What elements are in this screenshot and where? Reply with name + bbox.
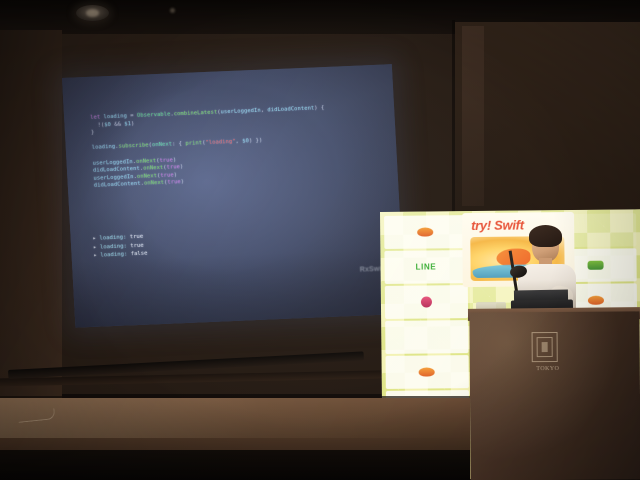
code-token: $0 (104, 121, 114, 127)
code-token: onNext (152, 142, 172, 149)
code-token: && (114, 121, 124, 127)
code-token: true (167, 179, 181, 186)
sponsor-mark-icon (419, 367, 435, 376)
code-token: true (160, 172, 174, 179)
code-token: ) (181, 179, 185, 185)
code-token: ) (180, 164, 184, 170)
right-wall-panel (462, 26, 484, 206)
stage-floor-sheen (0, 398, 470, 438)
code-token: ) (131, 121, 135, 127)
sponsor-mark-icon (421, 296, 432, 307)
code-token: subscribe (118, 143, 148, 150)
screen-bottom-shading (72, 248, 405, 328)
sponsor-logo-orange-blob-sponsor (384, 215, 467, 249)
code-token: onNext (136, 158, 156, 165)
console-value: true (126, 234, 143, 241)
code-token: : { (172, 141, 186, 148)
code-token: ) (174, 172, 178, 178)
sponsor-logo-line-sponsor: LINE (384, 250, 467, 284)
console-value: false (127, 251, 148, 258)
speaker-hair (529, 225, 562, 247)
sponsor-mark-icon (417, 227, 433, 236)
code-token: userLoggedIn (220, 108, 260, 116)
podium: TOKYO (469, 311, 640, 480)
ceiling-spotlight-icon (170, 8, 175, 13)
code-token: ) (173, 157, 177, 163)
slide-console-output: ▸ loading: true▸ loading: true▸ loading:… (93, 233, 148, 261)
code-token: print (185, 141, 202, 148)
console-key: loading: (100, 243, 127, 250)
sponsor-logo-orange-blob-sponsor-4 (386, 355, 469, 389)
sponsor-mark-icon (587, 261, 603, 270)
console-key: loading: (100, 252, 127, 259)
sponsor-mark-icon (588, 296, 604, 305)
console-value: true (127, 242, 144, 249)
code-token: true (166, 164, 180, 171)
code-token: "loading" (205, 139, 235, 146)
slide-code-block: let loading = Observable.combineLatest(u… (90, 102, 394, 190)
sponsor-logo-rakuten-sponsor (385, 285, 468, 319)
code-token: didLoadContent (93, 166, 140, 174)
code-token: let (90, 114, 104, 121)
code-token: didLoadContent (94, 181, 141, 189)
podium-label: TOKYO (526, 366, 570, 373)
code-token: true (159, 157, 173, 164)
code-token: onNext (144, 180, 164, 187)
sponsor-logo-mixi-sponsor (385, 320, 468, 354)
projection-screen: let loading = Observable.combineLatest(u… (62, 64, 405, 327)
code-token: combineLatest (174, 110, 218, 118)
code-token: loading (92, 144, 116, 151)
venue-square-emblem-icon (532, 332, 558, 362)
ceiling-light-fixture-icon (76, 5, 109, 21)
code-token: loading (103, 113, 130, 120)
code-token: ) { (314, 105, 324, 111)
code-token: onNext (137, 173, 157, 180)
code-token: onNext (143, 165, 163, 172)
code-token: } (91, 130, 95, 136)
code-token: didLoadContent (267, 105, 314, 113)
stage-front-face (0, 450, 470, 480)
console-key: loading: (99, 234, 126, 241)
code-token: ) }) (249, 138, 263, 145)
conference-photo-scene: let loading = Observable.combineLatest(u… (0, 0, 640, 480)
code-token: userLoggedIn (92, 159, 132, 167)
code-token: Observable (137, 111, 171, 118)
